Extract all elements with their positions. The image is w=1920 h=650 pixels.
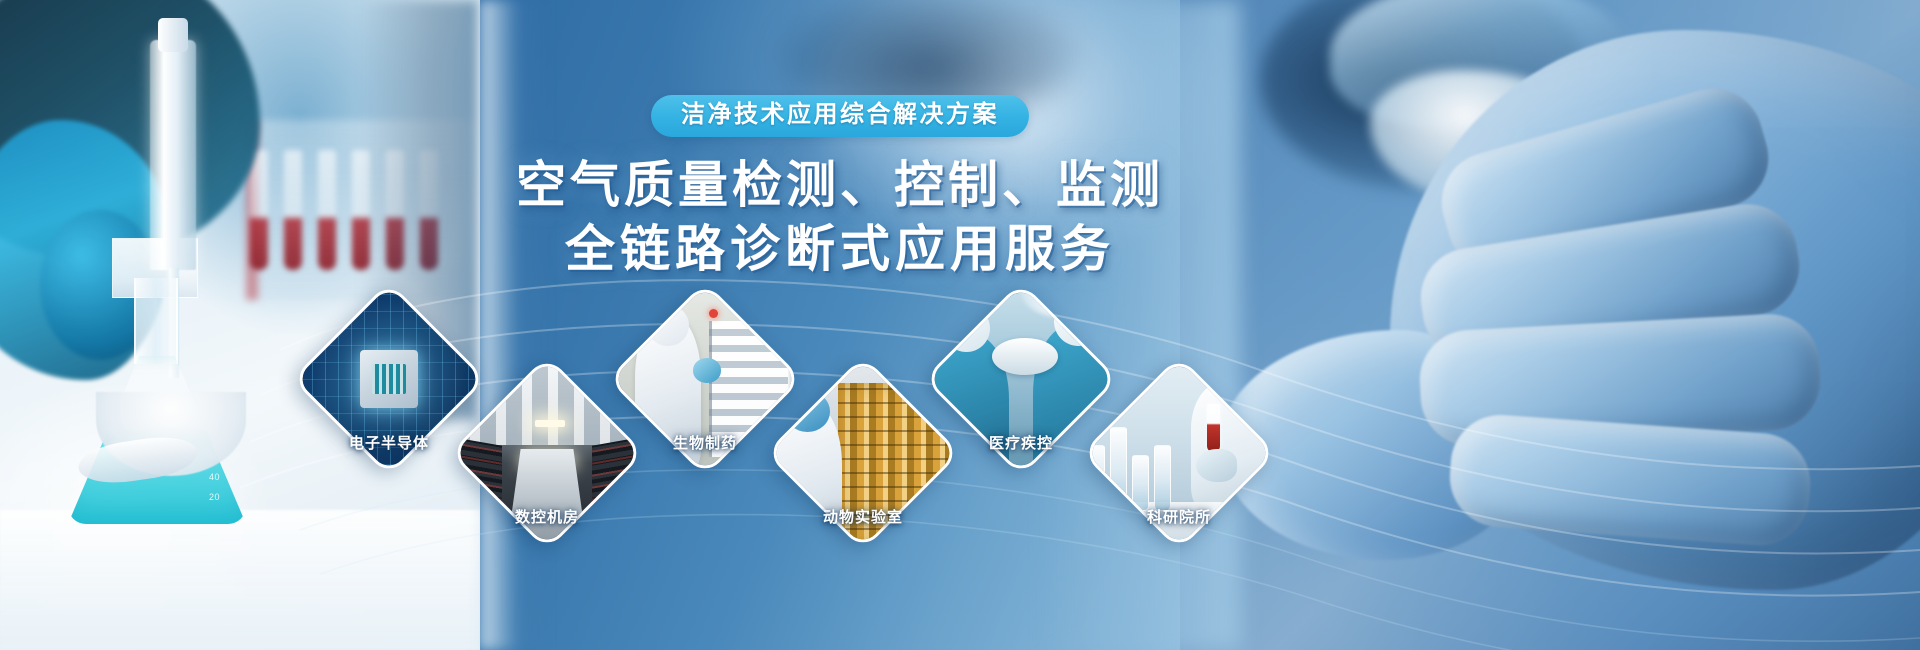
headline-line-2: 全链路诊断式应用服务	[460, 217, 1220, 281]
card-label: 动物实验室	[760, 506, 966, 527]
pipette-plunger	[158, 18, 188, 52]
pipette-body	[150, 40, 196, 270]
headline-line-1: 空气质量检测、控制、监测	[460, 153, 1220, 217]
card-semiconductor[interactable]: 电子半导体	[320, 310, 458, 448]
card-research-institute[interactable]: 科研院所	[1110, 384, 1248, 522]
card-label: 科研院所	[1076, 506, 1282, 527]
card-data-center[interactable]: 数控机房	[478, 384, 616, 522]
page-title: 空气质量检测、控制、监测 全链路诊断式应用服务	[460, 153, 1220, 281]
flask-neck	[134, 278, 178, 364]
status-badge: 洁净技术应用综合解决方案	[651, 95, 1029, 137]
headline-block: 洁净技术应用综合解决方案 空气质量检测、控制、监测 全链路诊断式应用服务	[460, 95, 1220, 281]
hero-banner: 80604020	[0, 0, 1920, 650]
gloved-finger-4	[1447, 412, 1814, 549]
card-bio-pharma[interactable]: 生物制药	[636, 310, 774, 448]
card-label: 数控机房	[444, 506, 650, 527]
card-animal-lab[interactable]: 动物实验室	[794, 384, 932, 522]
industry-cards-row: 电子半导体 数控机房	[300, 288, 1300, 548]
card-medical-cdc[interactable]: 医疗疾控	[952, 310, 1090, 448]
